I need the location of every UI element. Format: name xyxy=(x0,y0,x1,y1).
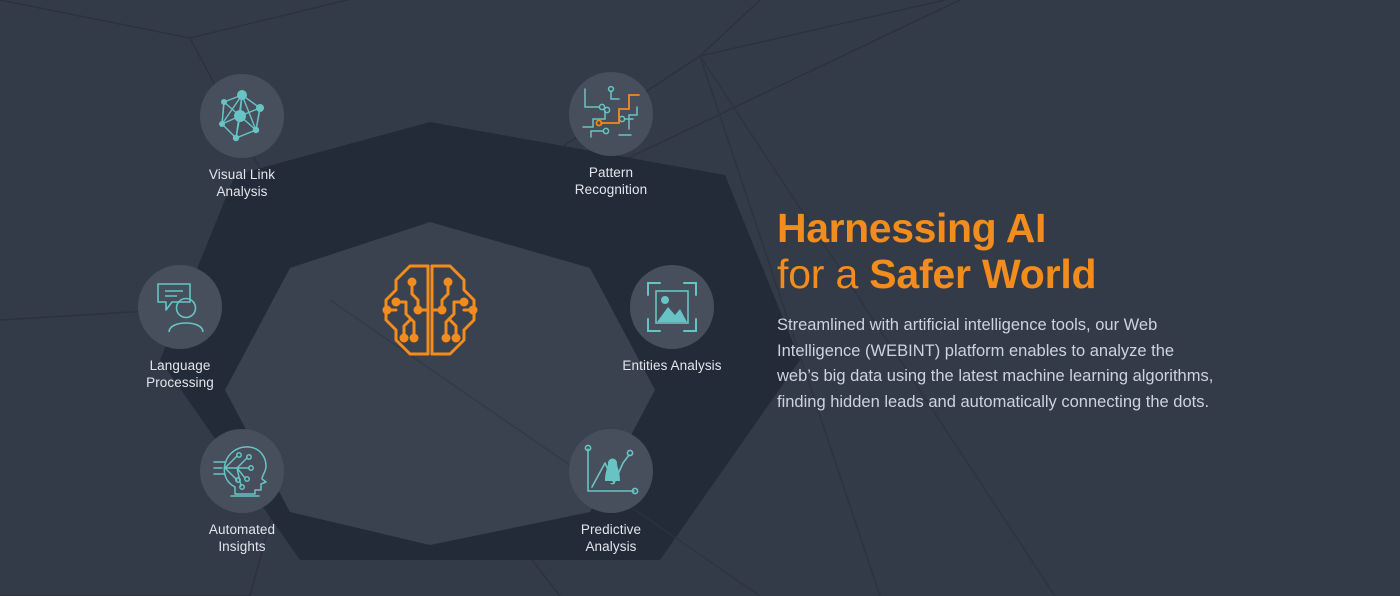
hero-copy: Harnessing AI for a Safer World Streamli… xyxy=(777,206,1237,415)
node-label: Entities Analysis xyxy=(592,358,752,375)
chart-alert-bell-icon xyxy=(581,443,641,499)
node-disc xyxy=(200,429,284,513)
node-label: Visual Link Analysis xyxy=(162,167,322,200)
speech-bubble-person-icon xyxy=(150,278,210,336)
node-disc xyxy=(200,74,284,158)
image-frame-icon xyxy=(644,279,700,335)
headline-line-2: for a Safer World xyxy=(777,250,1237,298)
network-graph-icon xyxy=(212,86,272,146)
headline-bold-part: Safer World xyxy=(869,251,1096,297)
node-visual-link-analysis[interactable]: Visual Link Analysis xyxy=(162,74,322,200)
headline-light-part: for a xyxy=(777,251,869,297)
node-disc xyxy=(569,429,653,513)
node-language-processing[interactable]: Language Processing xyxy=(100,265,260,391)
node-label: Automated Insights xyxy=(162,522,322,555)
node-label: Language Processing xyxy=(100,358,260,391)
node-pattern-recognition[interactable]: Pattern Recognition xyxy=(531,72,691,198)
node-entities-analysis[interactable]: Entities Analysis xyxy=(592,265,752,375)
node-disc xyxy=(630,265,714,349)
node-disc xyxy=(138,265,222,349)
brain-circuit-icon xyxy=(370,250,490,370)
hero-body-text: Streamlined with artificial intelligence… xyxy=(777,313,1217,415)
node-predictive-analysis[interactable]: Predictive Analysis xyxy=(531,429,691,555)
node-label: Predictive Analysis xyxy=(531,522,691,555)
node-label: Pattern Recognition xyxy=(531,165,691,198)
headline-line-1: Harnessing AI xyxy=(777,206,1237,250)
node-automated-insights[interactable]: Automated Insights xyxy=(162,429,322,555)
node-disc xyxy=(569,72,653,156)
circuit-traces-icon xyxy=(579,85,643,143)
head-circuit-icon xyxy=(211,442,273,500)
hero-section: Visual Link Analysis xyxy=(0,0,1400,596)
